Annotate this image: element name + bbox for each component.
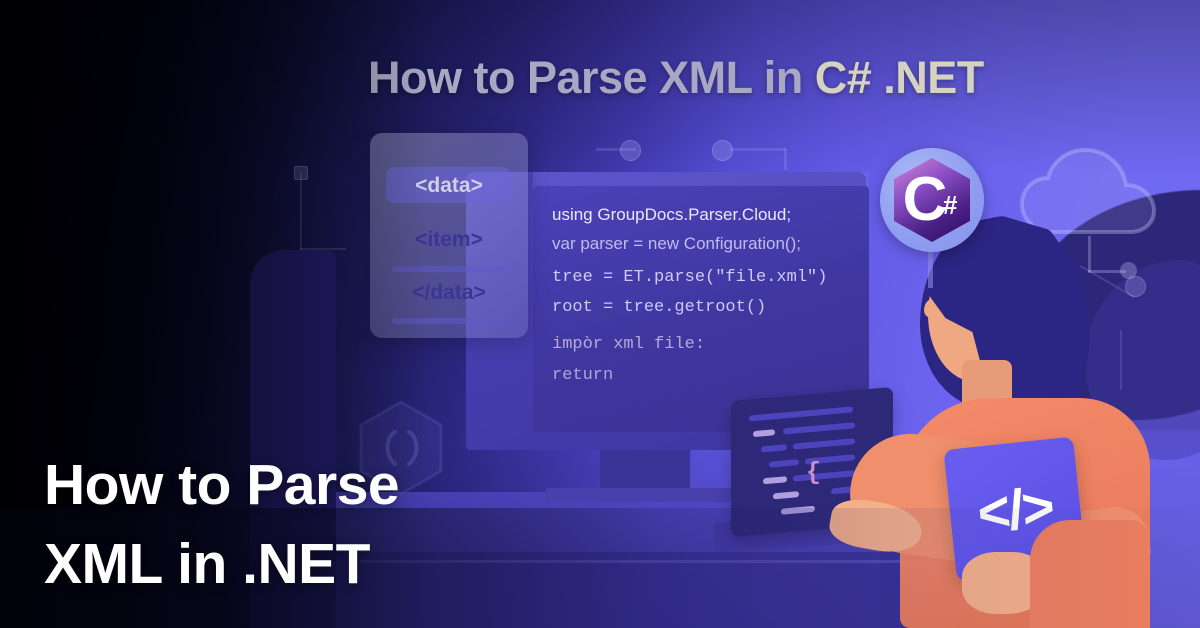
code-line-4: root = tree.getroot() <box>552 299 872 316</box>
csharp-letter-c: C <box>894 158 970 242</box>
headline-accent: C# .NET <box>815 52 984 103</box>
headline-main: How to Parse XML in <box>368 52 815 103</box>
laptop-code-line <box>793 438 855 449</box>
laptop-code-line <box>761 444 787 452</box>
circuit-line-4 <box>730 148 786 151</box>
laptop-code-line <box>749 406 853 421</box>
csharp-logo-icon: C # <box>880 148 984 252</box>
page-headline: How to Parse XML in C# .NET <box>368 52 984 104</box>
hero-title: How to Parse XML in .NET <box>44 446 399 603</box>
hero-banner: How to Parse XML in C# .NET using GroupD… <box>0 0 1200 628</box>
code-line-3: tree = ET.parse("file.xml") <box>552 269 872 286</box>
code-line-5: impòr xml file: <box>552 336 872 353</box>
hero-title-line-2: XML in .NET <box>44 525 399 604</box>
code-block: using GroupDocs.Parser.Cloud; var parser… <box>552 206 872 384</box>
laptop-code-line <box>783 422 855 434</box>
code-line-1: using GroupDocs.Parser.Cloud; <box>552 206 872 223</box>
csharp-hash-symbol: # <box>943 190 957 221</box>
monitor-stand-base <box>545 488 755 502</box>
laptop-code-line <box>753 429 775 437</box>
hero-title-line-1: How to Parse <box>44 446 399 525</box>
code-line-6: return <box>552 367 872 384</box>
laptop-code-line <box>763 476 787 484</box>
laptop-code-line <box>793 470 855 481</box>
monitor-stand-neck <box>600 450 690 492</box>
csharp-badge-stem <box>928 248 933 288</box>
laptop-code-line <box>769 459 799 468</box>
code-line-2: var parser = new Configuration(); <box>552 235 872 252</box>
laptop-code-line <box>773 491 799 499</box>
circuit-line-5 <box>784 148 787 170</box>
laptop-brace-icon: { <box>806 458 821 487</box>
circuit-node-2 <box>620 140 641 161</box>
